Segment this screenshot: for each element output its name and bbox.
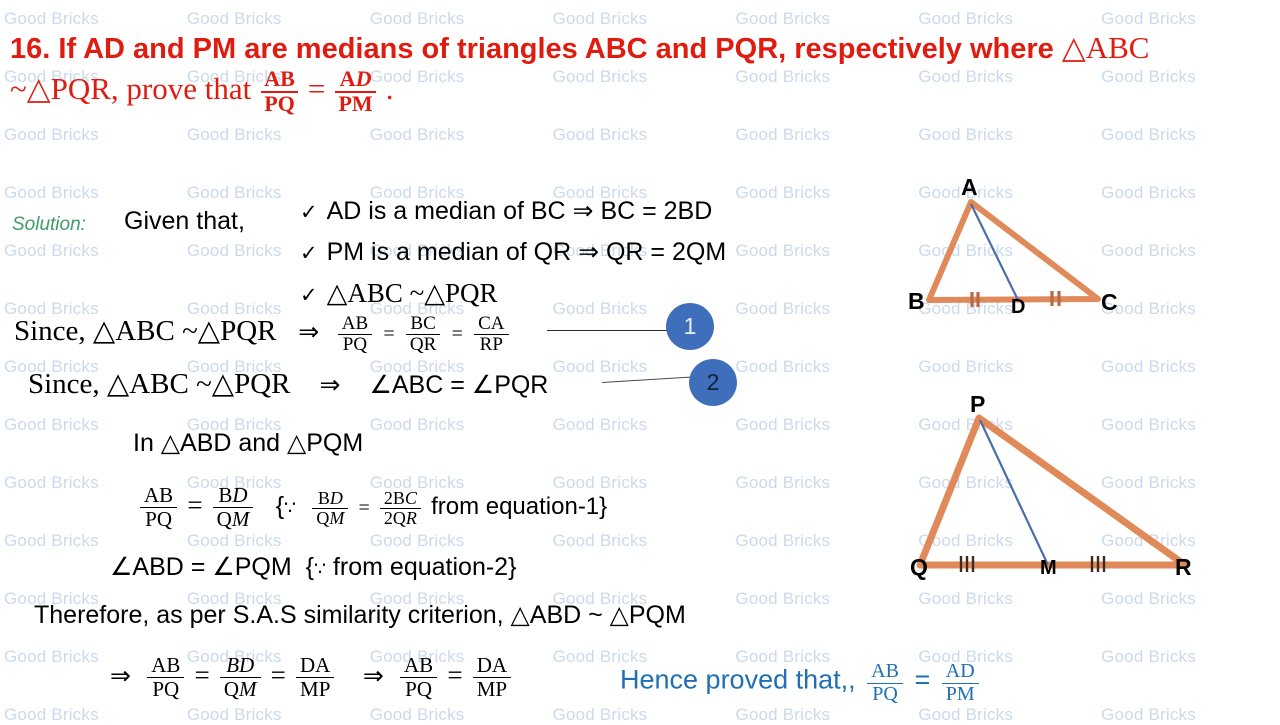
brace-open: {: [306, 553, 314, 581]
check-icon: ✓: [300, 200, 318, 224]
angle-note: from equation-2}: [333, 553, 516, 581]
vertex-label-a: A: [961, 174, 978, 201]
final-equation-line: ⇒ AB PQ = BD QM = DA MP ⇒ AB PQ = DA MP: [110, 654, 515, 700]
because-icon: ∵: [284, 497, 296, 519]
since-line-1: Since, △ABC ~△PQR ⇒ AB PQ = BC QR = CA R…: [14, 313, 513, 356]
vertex-label-b: B: [908, 288, 925, 315]
eq-sign: =: [271, 660, 286, 690]
ratio-equation-line: AB PQ = BD QM {∵ BD QM = 2BC 2QR from eq…: [136, 484, 607, 530]
frac-ab-pq: AB PQ: [140, 484, 177, 530]
triangle-pqr-outline: [920, 418, 1185, 565]
eq-sign: =: [195, 660, 210, 690]
triangle-abc-outline: [929, 202, 1098, 300]
since2-text: Since, △ABC ~△PQR: [28, 368, 291, 400]
given-that-text: Given that,: [124, 207, 245, 236]
equation-tag-2-label: 2: [707, 369, 720, 396]
eq-sign: =: [187, 490, 202, 520]
since1-text: Since, △ABC ~△PQR: [14, 315, 277, 347]
title-frac2-den: PM: [335, 91, 375, 116]
question-title: 16. If AD and PM are medians of triangle…: [10, 28, 1275, 115]
list-item: ✓PM is a median of QR ⇒ QR = 2QM: [300, 237, 726, 278]
solution-label: Solution:: [12, 214, 86, 236]
frac-da-mp: DA MP: [296, 654, 334, 700]
title-frac2-num: AD: [335, 68, 375, 91]
eq-sign: =: [447, 660, 462, 690]
ratio-frac-ab-pq: AB PQ: [338, 314, 372, 356]
question-line2-prefix: ~△PQR, prove that: [10, 71, 251, 106]
frac-ab-pq-2: AB PQ: [400, 654, 437, 700]
implies-arrow-icon: ⇒: [110, 661, 131, 690]
vertex-label-p: P: [970, 391, 985, 418]
in-triangles-line: In △ABD and △PQM: [133, 428, 363, 458]
hence-proved-line: Hence proved that,, AB PQ = AD PM: [620, 661, 983, 705]
because-icon: ∵: [314, 558, 326, 580]
vertex-label-r: R: [1175, 554, 1192, 581]
brace-open: {: [276, 492, 284, 520]
frac-2bc-2qr: 2BC 2QR: [380, 489, 421, 529]
check-icon: ✓: [300, 241, 318, 265]
eq-sign: =: [383, 323, 394, 345]
implies-arrow-icon: ⇒: [298, 317, 319, 346]
equation-tag-1-label: 1: [684, 313, 697, 340]
diagram-triangle-abc: A B C D: [870, 165, 1150, 335]
leader-line-1: [547, 330, 667, 331]
angle-equation-line: ∠ABD = ∠PQM {∵ from equation-2}: [110, 552, 516, 582]
since-line-2: Since, △ABC ~△PQR ⇒ ∠ABC = ∠PQR: [28, 366, 548, 401]
title-equals: =: [308, 71, 325, 106]
question-line1: If AD and PM are medians of triangles AB…: [58, 33, 1053, 65]
equation-tag-1: 1: [666, 303, 714, 350]
vertex-label-m: M: [1040, 557, 1057, 580]
vertex-label-q: Q: [910, 554, 928, 581]
leader-line-2: [602, 376, 698, 383]
given-bullet-list: ✓AD is a median of BC ⇒ BC = 2BD ✓PM is …: [300, 196, 726, 319]
vertex-label-d: D: [1011, 296, 1025, 319]
bullet-text-2: PM is a median of QR ⇒ QR = 2QM: [327, 238, 727, 266]
title-fraction-ab-pq: AB PQ: [261, 68, 298, 115]
equation-tag-2: 2: [689, 359, 737, 406]
frac-ab-pq: AB PQ: [147, 654, 184, 700]
question-number: 16.: [10, 33, 50, 65]
ratio-frac-ca-rp: CA RP: [474, 314, 508, 356]
list-item: ✓AD is a median of BC ⇒ BC = 2BD: [300, 196, 726, 237]
vertex-label-c: C: [1101, 289, 1118, 316]
bullet-text-3: △ABC ~△PQR: [327, 278, 498, 308]
hence-proved-text: Hence proved that,,: [620, 665, 856, 695]
title-fraction-ad-pm: AD PM: [335, 68, 375, 115]
frac-bd-qm: BD QM: [220, 654, 261, 700]
since2-statement: ∠ABC = ∠PQR: [369, 371, 548, 399]
title-frac1-den: PQ: [261, 91, 298, 116]
diagram-triangle-pqr: P Q R M: [870, 390, 1220, 600]
bullet-text-1: AD is a median of BC ⇒ BC = 2BD: [327, 197, 713, 225]
eq-sign: =: [914, 665, 930, 695]
check-icon: ✓: [300, 283, 318, 307]
angle-statement: ∠ABD = ∠PQM: [110, 553, 292, 581]
ratio-frac-bc-qr: BC QR: [406, 314, 440, 356]
hence-frac-ad-pm: AD PM: [942, 661, 979, 705]
frac-bd-qm: BD QM: [213, 484, 254, 530]
eq-sign: =: [452, 323, 463, 345]
implies-arrow-icon: ⇒: [363, 661, 384, 690]
title-period: .: [386, 71, 394, 106]
eq-sign: =: [359, 497, 370, 519]
therefore-line: Therefore, as per S.A.S similarity crite…: [34, 600, 686, 630]
question-tri-abc: △ABC: [1062, 30, 1150, 65]
implies-arrow-icon: ⇒: [320, 370, 341, 399]
ratio-note: from equation-1}: [431, 493, 607, 520]
title-frac1-num: AB: [261, 68, 298, 91]
hence-frac-ab-pq: AB PQ: [867, 661, 903, 705]
frac-da-mp-2: DA MP: [473, 654, 511, 700]
frac-bd-qm-inner: BD QM: [312, 489, 348, 529]
